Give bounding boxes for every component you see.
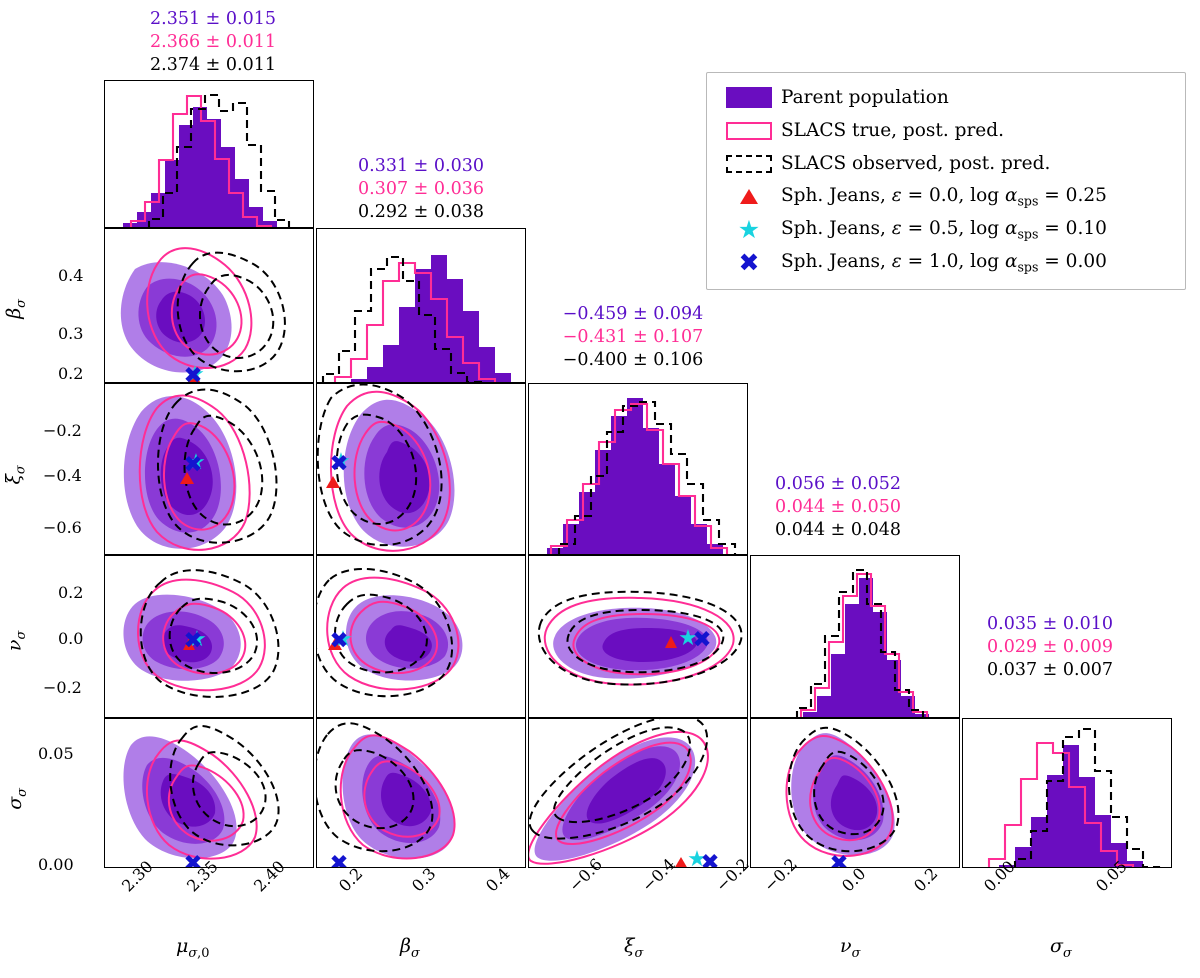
legend-label: Sph. Jeans, ε = 0.0, log αsps = 0.25	[781, 185, 1107, 209]
legend-item-jeans-eps-0[interactable]: Sph. Jeans, ε = 0.0, log αsps = 0.25	[717, 180, 1175, 213]
svg-text:✖: ✖	[183, 452, 202, 478]
legend-item-jeans-eps-10[interactable]: ✖ Sph. Jeans, ε = 1.0, log αsps = 0.00	[717, 246, 1175, 279]
axis-label-mu: μσ,0	[176, 935, 210, 961]
svg-text:✖: ✖	[329, 851, 348, 868]
black-dashed-line-icon	[717, 155, 781, 173]
corner-plot: 2.351 ± 0.015 2.366 ± 0.011 2.374 ± 0.01…	[0, 0, 1200, 978]
title-parent-value: 0.056 ± 0.052	[733, 473, 943, 496]
panel-nu-sigma: ✖	[750, 718, 960, 868]
legend-label: Parent population	[781, 87, 949, 108]
title-beta: 0.331 ± 0.030 0.307 ± 0.036 0.292 ± 0.03…	[316, 155, 526, 223]
title-obs-value: 0.292 ± 0.038	[316, 201, 526, 224]
title-xi: −0.459 ± 0.094 −0.431 ± 0.107 −0.400 ± 0…	[518, 303, 748, 371]
xtick-nu-0.2: 0.2	[910, 864, 941, 895]
svg-text:✖: ✖	[183, 628, 202, 654]
axis-label-xi-y: ξσ	[3, 465, 29, 484]
xtick-beta-0.2: 0.2	[335, 864, 366, 895]
ytick-sigma-0.05: 0.05	[38, 744, 74, 763]
legend-item-jeans-eps-05[interactable]: ★ Sph. Jeans, ε = 0.5, log αsps = 0.10	[717, 213, 1175, 246]
panel-beta-hist	[316, 228, 526, 383]
title-sigma: 0.035 ± 0.010 0.029 ± 0.009 0.037 ± 0.00…	[945, 613, 1155, 681]
axis-label-beta-y: βσ	[3, 299, 29, 319]
svg-text:✖: ✖	[183, 363, 202, 383]
ytick-beta-0.2: 0.2	[58, 364, 83, 383]
ytick-xi--0.2: −0.2	[43, 421, 82, 440]
axis-label-xi: ξσ	[624, 935, 643, 961]
axis-label-nu-y: νσ	[3, 631, 29, 651]
ytick-nu--0.2: −0.2	[43, 678, 82, 697]
axis-label-sigma: σσ	[1050, 935, 1072, 961]
red-triangle-icon	[717, 189, 781, 204]
title-obs-value: −0.400 ± 0.106	[518, 349, 748, 372]
legend-item-slacs-observed[interactable]: SLACS observed, post. pred.	[717, 147, 1175, 180]
title-true-value: 2.366 ± 0.011	[108, 31, 318, 54]
panel-sigma-hist	[962, 718, 1172, 868]
ytick-sigma-0.00: 0.00	[38, 855, 74, 874]
title-true-value: −0.431 ± 0.107	[518, 326, 748, 349]
blue-cross-icon: ✖	[717, 252, 781, 274]
title-true-value: 0.307 ± 0.036	[316, 178, 526, 201]
legend-label: SLACS observed, post. pred.	[781, 153, 1050, 174]
title-obs-value: 0.044 ± 0.048	[733, 519, 943, 542]
svg-text:✖: ✖	[700, 850, 719, 868]
panel-xi-hist	[528, 383, 748, 555]
svg-text:✖: ✖	[829, 851, 848, 868]
legend-label: SLACS true, post. pred.	[781, 120, 1004, 141]
panel-mu-sigma: ✖	[104, 718, 314, 868]
title-true-value: 0.029 ± 0.009	[945, 636, 1155, 659]
title-mu: 2.351 ± 0.015 2.366 ± 0.011 2.374 ± 0.01…	[108, 8, 318, 76]
filled-violet-patch-icon	[717, 87, 781, 108]
title-parent-value: 2.351 ± 0.015	[108, 8, 318, 31]
title-nu: 0.056 ± 0.052 0.044 ± 0.050 0.044 ± 0.04…	[733, 473, 943, 541]
title-parent-value: 0.035 ± 0.010	[945, 613, 1155, 636]
ytick-beta-0.4: 0.4	[58, 266, 83, 285]
ytick-xi--0.6: −0.6	[43, 518, 82, 537]
panel-xi-sigma: ★ ✖	[528, 718, 748, 868]
ytick-nu-0.0: 0.0	[58, 629, 83, 648]
title-obs-value: 0.037 ± 0.007	[945, 659, 1155, 682]
title-parent-value: 0.331 ± 0.030	[316, 155, 526, 178]
panel-mu-beta: ★ ✖	[104, 228, 314, 383]
legend: Parent population SLACS true, post. pred…	[706, 72, 1186, 290]
svg-text:✖: ✖	[329, 451, 348, 477]
axis-label-beta: βσ	[400, 935, 420, 961]
panel-beta-xi: ★ ✖	[316, 383, 526, 555]
legend-label: Sph. Jeans, ε = 0.5, log αsps = 0.10	[781, 218, 1107, 242]
panel-xi-nu: ★ ✖	[528, 555, 748, 718]
svg-text:✖: ✖	[329, 628, 348, 654]
xtick-beta-0.4: 0.4	[482, 864, 513, 895]
xtick-nu-0.0: 0.0	[838, 864, 869, 895]
pink-solid-line-icon	[717, 122, 781, 140]
panel-nu-hist	[750, 555, 960, 718]
title-obs-value: 2.374 ± 0.011	[108, 54, 318, 77]
legend-label: Sph. Jeans, ε = 1.0, log αsps = 0.00	[781, 251, 1107, 275]
xtick-beta-0.3: 0.3	[408, 864, 439, 895]
ytick-beta-0.3: 0.3	[58, 324, 83, 343]
cyan-star-icon: ★	[717, 219, 781, 241]
panel-beta-sigma: ✖	[316, 718, 526, 868]
panel-mu-nu: ★ ✖	[104, 555, 314, 718]
ytick-nu-0.2: 0.2	[58, 583, 83, 602]
axis-label-sigma-y: σσ	[4, 788, 30, 810]
axis-label-nu: νσ	[840, 935, 860, 961]
title-parent-value: −0.459 ± 0.094	[518, 303, 748, 326]
panel-beta-nu: ★ ✖	[316, 555, 526, 718]
legend-item-parent-population[interactable]: Parent population	[717, 81, 1175, 114]
title-true-value: 0.044 ± 0.050	[733, 496, 943, 519]
svg-text:✖: ✖	[692, 627, 711, 653]
panel-mu-xi: ★ ✖	[104, 383, 314, 555]
panel-mu-hist	[104, 80, 314, 228]
ytick-xi--0.4: −0.4	[43, 466, 82, 485]
legend-item-slacs-true[interactable]: SLACS true, post. pred.	[717, 114, 1175, 147]
